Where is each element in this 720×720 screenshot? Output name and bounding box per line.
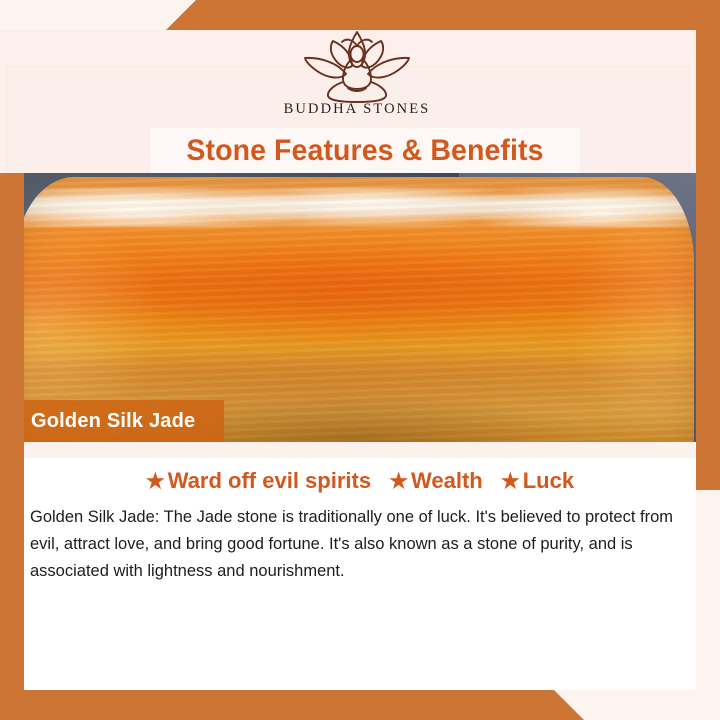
bottom-accent-band [0,690,720,720]
star-icon: ★ [501,470,520,493]
photo-caption-banner: Golden Silk Jade [0,400,224,442]
feature-item: ★Luck [501,468,574,494]
feature-label: Ward off evil spirits [168,468,371,493]
stone-photo: Golden Silk Jade [0,173,696,442]
brand-logo [0,26,714,106]
lotus-meditation-figure-icon [284,27,430,105]
feature-label: Wealth [411,468,483,493]
page-title: Stone Features & Benefits [186,134,543,168]
left-accent-strip-lower [0,442,24,690]
content-top-tint [24,442,696,458]
star-icon: ★ [146,470,165,493]
star-icon: ★ [389,470,408,493]
brand-name: BUDDHA STONES [0,101,714,118]
feature-item: ★Ward off evil spirits [146,468,371,494]
description-text: Golden Silk Jade: The Jade stone is trad… [30,504,690,585]
photo-caption-text: Golden Silk Jade [0,410,195,433]
features-list: ★Ward off evil spirits ★Wealth ★Luck [24,468,696,494]
feature-label: Luck [523,468,574,493]
feature-item: ★Wealth [389,468,483,494]
title-banner: Stone Features & Benefits [150,128,580,173]
right-accent-strip-mid [696,173,720,490]
infographic-card: BUDDHA STONES Stone Features & Benefits … [0,0,720,720]
content-panel: ★Ward off evil spirits ★Wealth ★Luck Gol… [24,458,696,690]
